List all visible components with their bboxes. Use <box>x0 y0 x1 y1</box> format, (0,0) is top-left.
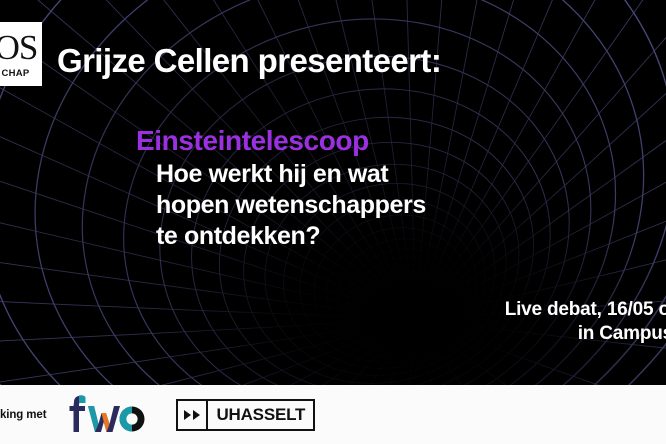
footer-pretext: verking met <box>0 409 46 421</box>
eos-wetenschap-logo: OS CHAP <box>0 22 42 86</box>
partner-footer-bar: verking met UHASSELT <box>0 385 666 444</box>
triangle-right-icon <box>193 410 200 420</box>
triangle-right-icon <box>184 410 191 420</box>
event-detail-line-2: in Campus Ha <box>505 322 666 346</box>
title-block: Einsteintelescoop Hoe werkt hij en wat h… <box>136 126 426 252</box>
event-subtitle: Hoe werkt hij en wat hopen wetenschapper… <box>156 159 426 252</box>
fwo-logo-svg <box>60 394 148 436</box>
event-details: Live debat, 16/05 om 1 in Campus Ha <box>505 298 666 347</box>
eos-logo-word: OS <box>0 30 37 65</box>
eos-logo-subword: CHAP <box>1 68 29 79</box>
subtitle-line-2: hopen wetenschappers <box>156 190 426 221</box>
uhasselt-logo: UHASSELT <box>176 399 315 431</box>
subtitle-line-1: Hoe werkt hij en wat <box>156 159 426 190</box>
event-detail-line-1: Live debat, 16/05 om 1 <box>505 298 666 322</box>
uhasselt-arrows-icon <box>178 401 208 429</box>
fwo-logo <box>60 394 148 436</box>
poster-image: OS CHAP Grijze Cellen presenteert: Einst… <box>0 0 666 444</box>
event-title: Einsteintelescoop <box>136 126 426 155</box>
uhasselt-wordmark: UHASSELT <box>208 401 313 429</box>
subtitle-line-3: te ontdekken? <box>156 221 426 252</box>
headline-text: Grijze Cellen presenteert: <box>57 42 441 80</box>
